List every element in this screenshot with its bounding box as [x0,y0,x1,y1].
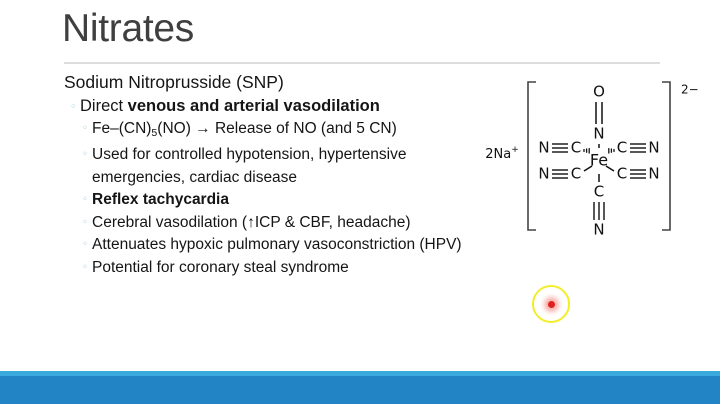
hash-bond-upper-left [584,149,589,153]
list-item-label: Attenuates hypoxic pulmonary vasoconstri… [92,234,462,257]
formula-suffix: (NO) → Release of NO (and 5 CN) [157,120,396,137]
atom-N-bottom: N [593,221,604,239]
atom-C-lower-left: C [571,165,581,183]
list-item: ◦ Attenuates hypoxic pulmonary vasoconst… [64,234,544,257]
atom-C-lower-right: C [617,165,627,183]
atom-N-lower-left: N [538,165,549,183]
chemical-structure-diagram: 2Na+ 2− O N C N [480,70,712,250]
presentation-slide: Nitrates Sodium Nitroprusside (SNP) ◦ Di… [0,0,720,404]
title-divider [64,62,660,64]
list-item-label: Fe–(CN)5(NO) → Release of NO (and 5 CN) [92,118,397,144]
list-item: ◦ Cerebral vasodilation (↑ICP & CBF, hea… [64,212,544,235]
page-title: Nitrates [62,6,194,52]
bullet-icon: ◦ [82,212,92,235]
list-item-lead: Direct [80,97,128,115]
list-item-continuation: emergencies, cardiac disease [64,167,544,190]
list-item: ◦ Potential for coronary steal syndrome [64,257,544,280]
atom-C-upper-left: C [571,139,581,157]
atom-N-upper-left: N [538,139,549,157]
list-item-emphasis: venous and arterial vasodilation [128,97,380,115]
bullet-icon: ◦ [82,118,92,141]
bullet-icon: ◦ [82,234,92,257]
bullet-icon: ◦ [82,144,92,167]
atom-N-lower-right: N [648,165,659,183]
bracket-left-icon [528,82,536,230]
list-item-label: Used for controlled hypotension, hyperte… [92,144,407,167]
list-item-label: Direct venous and arterial vasodilation [80,95,380,118]
atom-C-bottom: C [594,183,604,201]
atom-N-upper-right: N [648,139,659,157]
bracket-right-icon [662,82,670,230]
list-item: ◦ Fe–(CN)5(NO) → Release of NO (and 5 CN… [64,118,544,144]
atom-Fe-center: Fe [590,151,608,170]
slide-body: Sodium Nitroprusside (SNP) ◦ Direct veno… [64,70,544,279]
list-item-label: Potential for coronary steal syndrome [92,257,349,280]
bullet-icon: ◦ [82,257,92,280]
list-item: ◦ Used for controlled hypotension, hyper… [64,144,544,167]
atom-C-upper-right: C [617,139,627,157]
click-highlight-ring [532,285,570,323]
list-item: ◦ Direct venous and arterial vasodilatio… [64,95,544,118]
list-item: ◦ Reflex tachycardia [64,189,544,212]
cursor-dot-icon [548,301,555,308]
counter-ion-label: 2Na+ [485,145,519,162]
atom-N-top: N [593,125,604,143]
footer-accent-bar-dark [0,376,720,404]
list-item-label: Reflex tachycardia [92,189,229,212]
atom-O-top: O [593,83,605,101]
section-heading: Sodium Nitroprusside (SNP) [64,70,544,95]
hash-bond-upper-right [609,149,614,153]
bullet-icon: ◦ [70,95,80,118]
formula-prefix: Fe–(CN) [92,120,151,137]
list-item-label: Cerebral vasodilation (↑ICP & CBF, heada… [92,212,410,235]
sodium-nitroprusside-svg: 2Na+ 2− O N C N [480,70,712,250]
complex-charge-label: 2− [681,83,699,97]
bullet-icon: ◦ [82,189,92,212]
